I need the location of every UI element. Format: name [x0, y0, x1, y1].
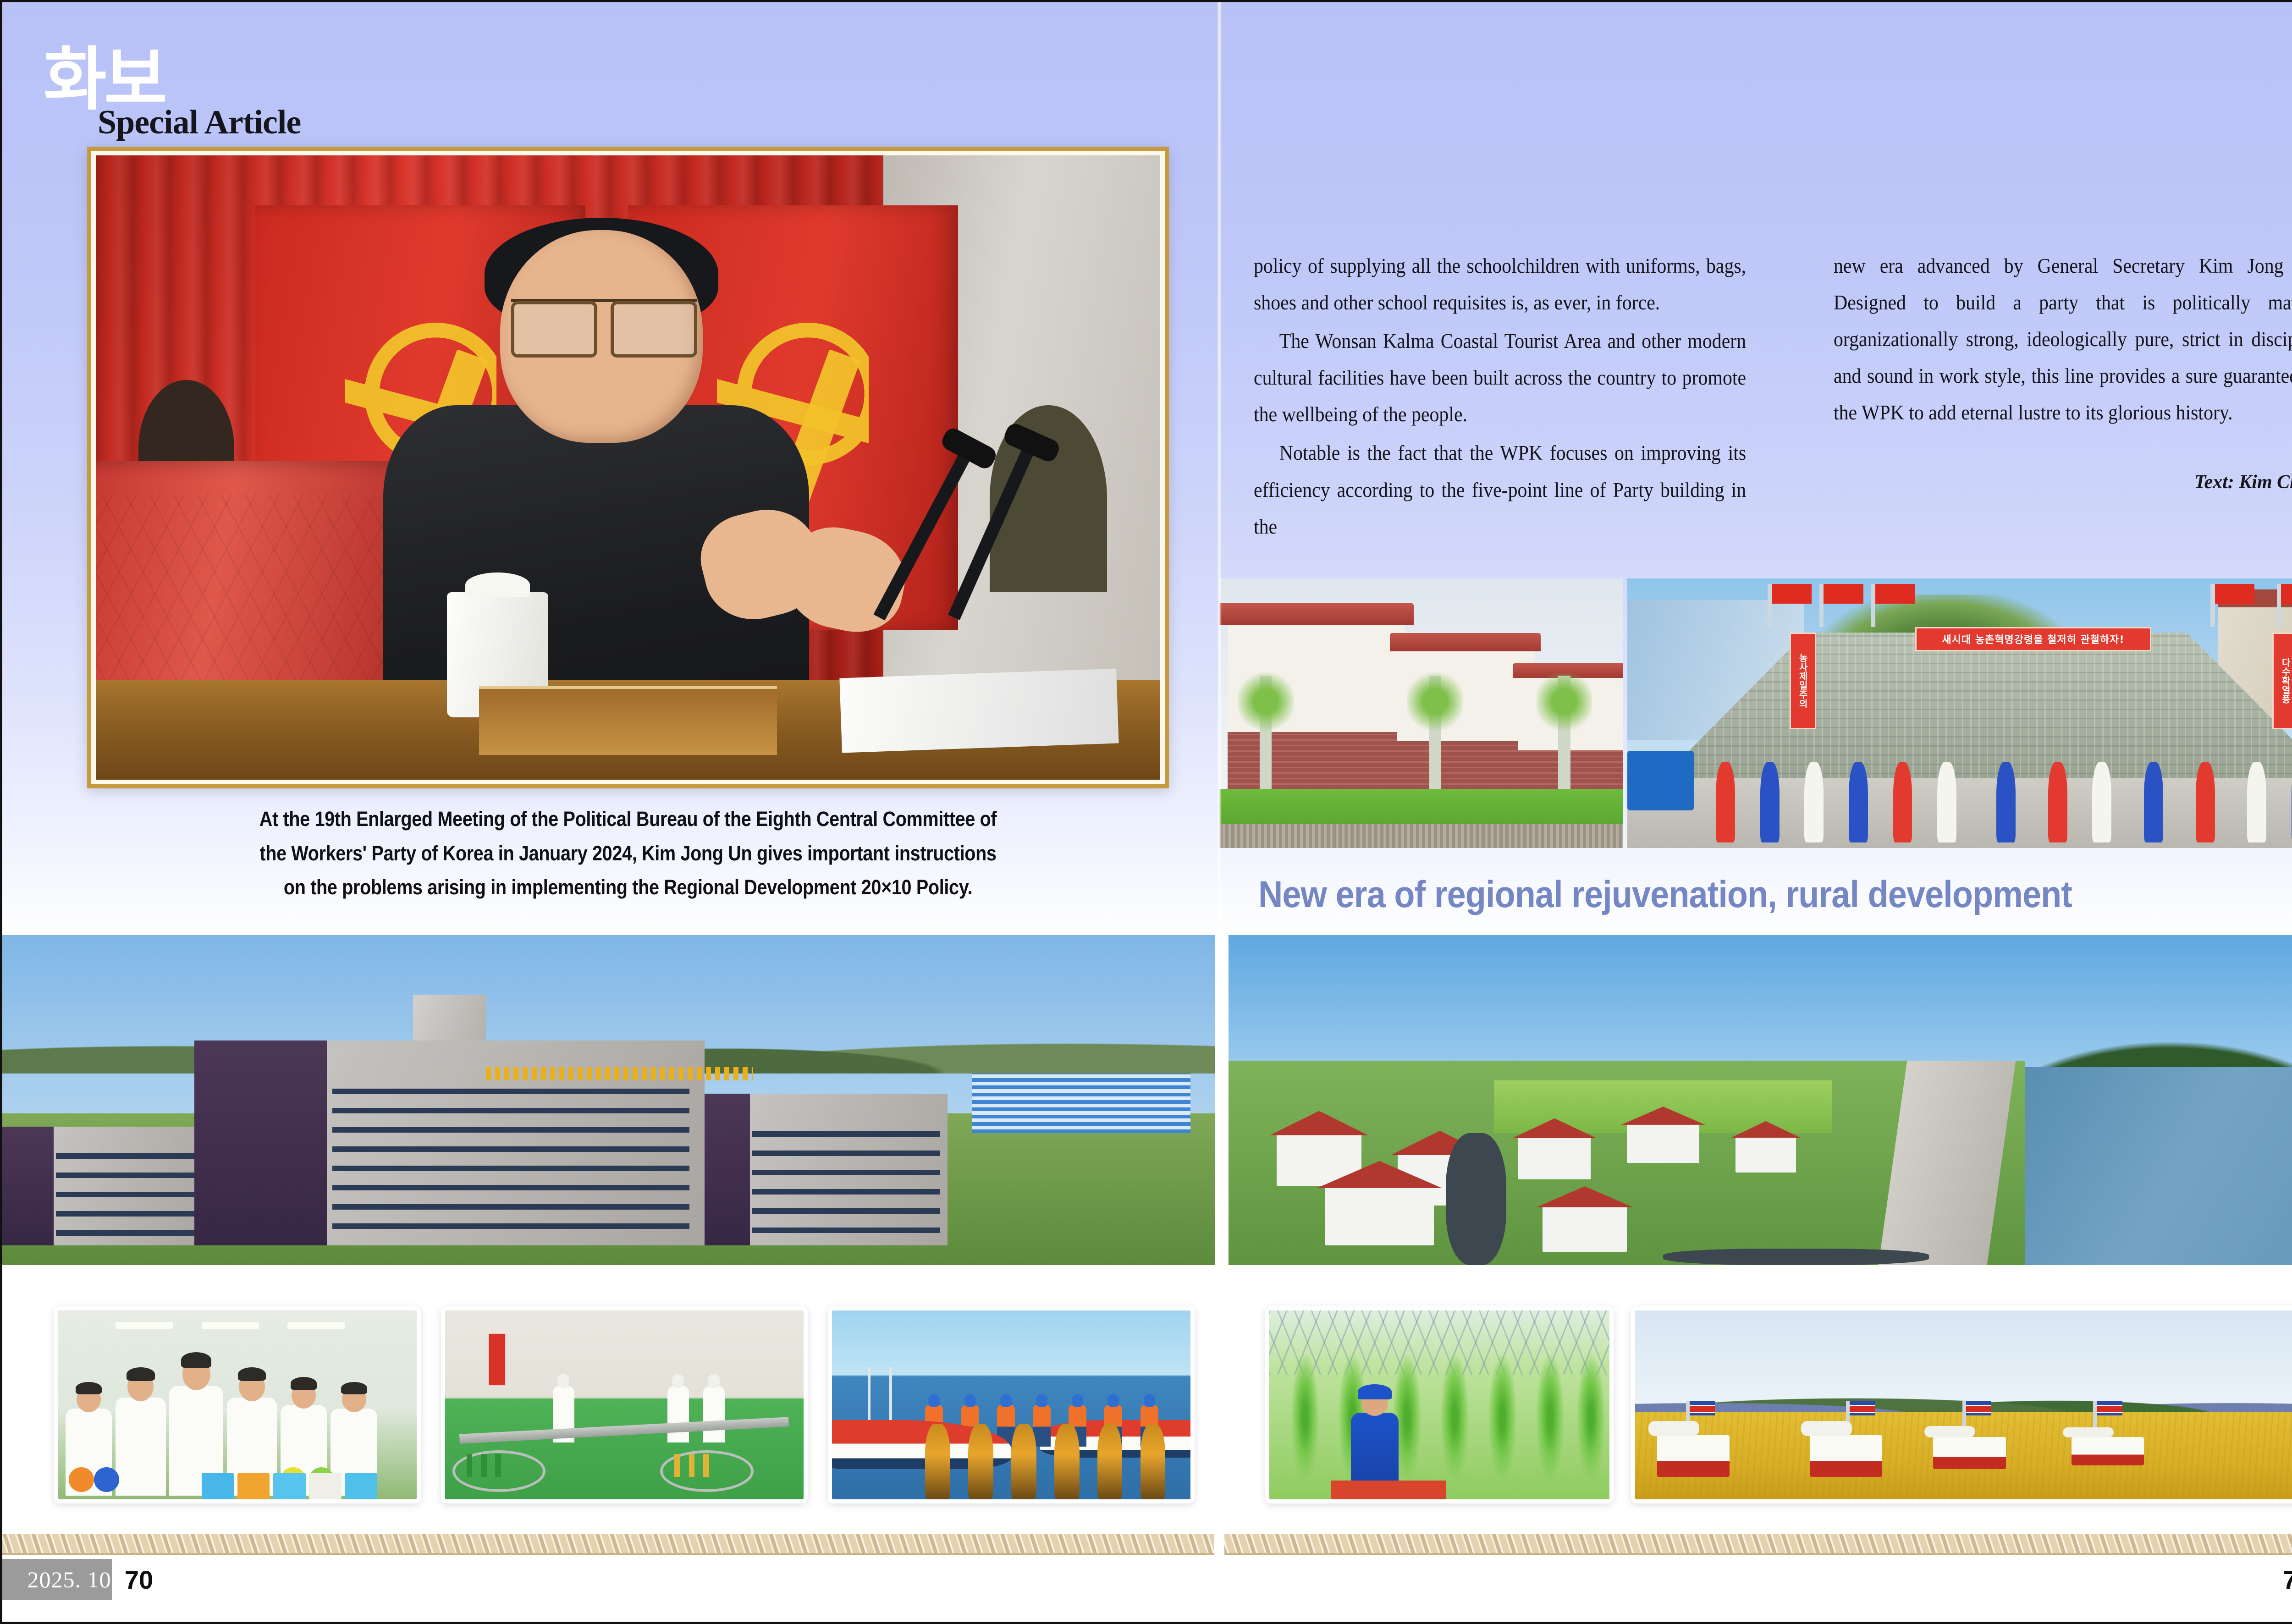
hero-caption-line-2: the Workers' Party of Korea in January 2…	[249, 837, 1007, 871]
worker-head	[127, 1372, 154, 1401]
footer-right-page: 71 2025. 10.	[2280, 1559, 2292, 1600]
kelp-bundle	[925, 1424, 950, 1499]
article-paragraph: The Wonsan Kalma Coastal Tourist Area an…	[1254, 323, 1746, 433]
combine-harvester	[2072, 1437, 2144, 1465]
flag-icon	[1871, 584, 1875, 627]
folk-dancer	[2196, 762, 2215, 842]
footer-left-page: 2025. 10. 70	[0, 1559, 156, 1600]
photo-rural-houses	[1219, 578, 1623, 848]
tree-icon	[1558, 676, 1570, 794]
folk-dancer	[1804, 762, 1824, 842]
folk-dancer	[2092, 762, 2111, 842]
cucumber-vine	[1290, 1348, 1321, 1488]
flag-icon	[1768, 584, 1772, 627]
page-number-left: 70	[112, 1559, 156, 1600]
section-heading: New era of regional rejuvenation, rural …	[1258, 873, 2072, 916]
roof	[1390, 633, 1541, 651]
factory-wing	[680, 1094, 948, 1245]
blue-glass-building	[972, 1073, 1190, 1133]
worker-white-coat	[116, 1398, 165, 1496]
worker-head	[292, 1382, 316, 1409]
combine-harvester	[1657, 1435, 1730, 1477]
folk-dancer	[2144, 762, 2163, 842]
factory-wing	[0, 1127, 207, 1245]
combine-harvester	[1933, 1437, 2006, 1469]
hero-photo-frame	[87, 147, 1169, 788]
photo-bottling-plant	[441, 1306, 808, 1503]
tree-icon	[1429, 676, 1441, 794]
article-body: policy of supplying all the schoolchildr…	[1254, 248, 2292, 547]
brick-base	[1228, 732, 1405, 789]
slogan-banner	[488, 1333, 506, 1386]
stone-wall	[1219, 824, 1623, 848]
plant-worker	[667, 1386, 689, 1443]
worker-head	[342, 1386, 366, 1412]
photo-greenhouse	[1265, 1306, 1614, 1503]
ceiling-light	[287, 1322, 345, 1329]
masthead-korean-title: 화보	[44, 48, 165, 111]
decorative-rope-border	[0, 1534, 2292, 1555]
balloon-icon	[94, 1467, 119, 1492]
article-byline: Text: Kim Chol Hyok	[1834, 471, 2292, 493]
brick-base	[1397, 741, 1534, 789]
photo-foodstuff-factory	[54, 1306, 421, 1503]
product-package	[237, 1473, 270, 1499]
masthead-english-title: Special Article	[98, 103, 301, 142]
article-column-2: new era advanced by General Secretary Ki…	[1834, 248, 2292, 547]
kelp-bundle	[1011, 1424, 1036, 1499]
boat-mast	[889, 1367, 892, 1420]
tractor-icon	[1627, 751, 1694, 810]
village-house	[1518, 1136, 1591, 1179]
flag-icon	[1819, 584, 1824, 627]
village-house	[1325, 1186, 1434, 1245]
harvest-cart	[1331, 1481, 1446, 1499]
boat-mast	[868, 1367, 870, 1420]
folk-dancer	[1760, 762, 1780, 842]
village-road	[1446, 1133, 1506, 1265]
page-number-right: 71	[2280, 1559, 2292, 1600]
folk-dancer	[1893, 762, 1912, 842]
village-house	[1736, 1136, 1796, 1173]
accent-panel	[0, 1127, 54, 1245]
hero-photo-kim-jong-un	[96, 155, 1160, 780]
photo-rice-harvest	[1631, 1306, 2292, 1503]
hero-caption: At the 19th Enlarged Meeting of the Poli…	[249, 802, 1007, 905]
article-paragraph: Notable is the fact that the WPK focuses…	[1254, 435, 1746, 545]
photo-harvest-celebration: 새시대 농촌혁명강령을 철저히 관철하자! 농사제일주의 다수확열풍	[1627, 578, 2292, 848]
bottle-icon	[495, 1454, 501, 1476]
kelp-bundle	[1097, 1424, 1123, 1499]
combine-harvester	[1810, 1435, 1883, 1477]
article-paragraph: new era advanced by General Secretary Ki…	[1834, 248, 2292, 431]
photo-coastal-village	[1229, 935, 2292, 1265]
product-package	[273, 1473, 305, 1499]
article-column-1: policy of supplying all the schoolchildr…	[1254, 248, 1783, 547]
kelp-bundle	[1140, 1424, 1166, 1499]
bottle-icon	[467, 1454, 473, 1476]
desk-papers	[840, 669, 1119, 753]
photo-kelp-harvest	[828, 1306, 1195, 1503]
glasses-icon	[511, 299, 697, 331]
worker-head	[239, 1372, 265, 1401]
slogan-banner-main: 새시대 농촌혁명강령을 철저히 관철하자!	[1915, 627, 2151, 651]
slogan-banner-left: 농사제일주의	[1790, 633, 1816, 730]
bottle-icon	[481, 1454, 487, 1476]
window-rows	[56, 1153, 200, 1236]
page-gutter	[1217, 0, 1222, 1624]
village-road	[1663, 1249, 1928, 1265]
ceiling-light	[202, 1322, 259, 1329]
folk-dancer	[2247, 762, 2266, 842]
brick-base	[1518, 750, 1623, 789]
roof	[1219, 603, 1414, 625]
flag-icon	[2210, 584, 2215, 627]
cucumber-vine	[1439, 1348, 1470, 1488]
cucumber-vine	[1487, 1348, 1518, 1488]
window-rows	[332, 1086, 689, 1229]
folk-dancer	[1996, 762, 2016, 842]
article-paragraph: policy of supplying all the schoolchildr…	[1254, 248, 1746, 321]
hero-photo-inner-border	[91, 151, 1165, 784]
balloon-icon	[69, 1467, 94, 1492]
bottle-icon	[703, 1454, 709, 1476]
rooftop-slogan	[486, 1067, 753, 1080]
cucumber-vine	[1535, 1348, 1565, 1488]
worker-head	[77, 1386, 101, 1412]
kelp-bundle	[1054, 1424, 1080, 1499]
folk-dancer	[1716, 762, 1735, 842]
village-house	[1627, 1123, 1699, 1162]
ceiling-light	[116, 1322, 173, 1329]
cucumber-vine	[1576, 1348, 1606, 1488]
bottle-icon	[689, 1454, 695, 1476]
folk-dancer	[1937, 762, 1956, 842]
kelp-bundle	[968, 1424, 993, 1499]
plant-worker	[703, 1386, 725, 1443]
village-house	[1543, 1206, 1627, 1252]
product-package	[202, 1473, 234, 1499]
accent-panel	[194, 1040, 327, 1245]
folk-dancer	[2048, 762, 2067, 842]
slogan-banner-right: 다수확열풍	[2272, 633, 2292, 730]
worker-head	[182, 1358, 210, 1391]
product-package	[309, 1473, 341, 1499]
flag-icon	[2277, 584, 2281, 627]
window-rows	[752, 1127, 939, 1233]
product-package	[345, 1473, 377, 1499]
hero-caption-line-1: At the 19th Enlarged Meeting of the Poli…	[249, 802, 1007, 837]
photo-regional-factory	[0, 935, 1215, 1265]
masthead: 화보 Special Article	[44, 48, 165, 111]
folk-dancer	[1849, 762, 1868, 842]
bottle-icon	[674, 1454, 680, 1476]
hero-caption-line-3: on the problems arising in implementing …	[249, 870, 1007, 905]
desk-documents	[479, 686, 777, 755]
tree-icon	[1260, 676, 1272, 794]
